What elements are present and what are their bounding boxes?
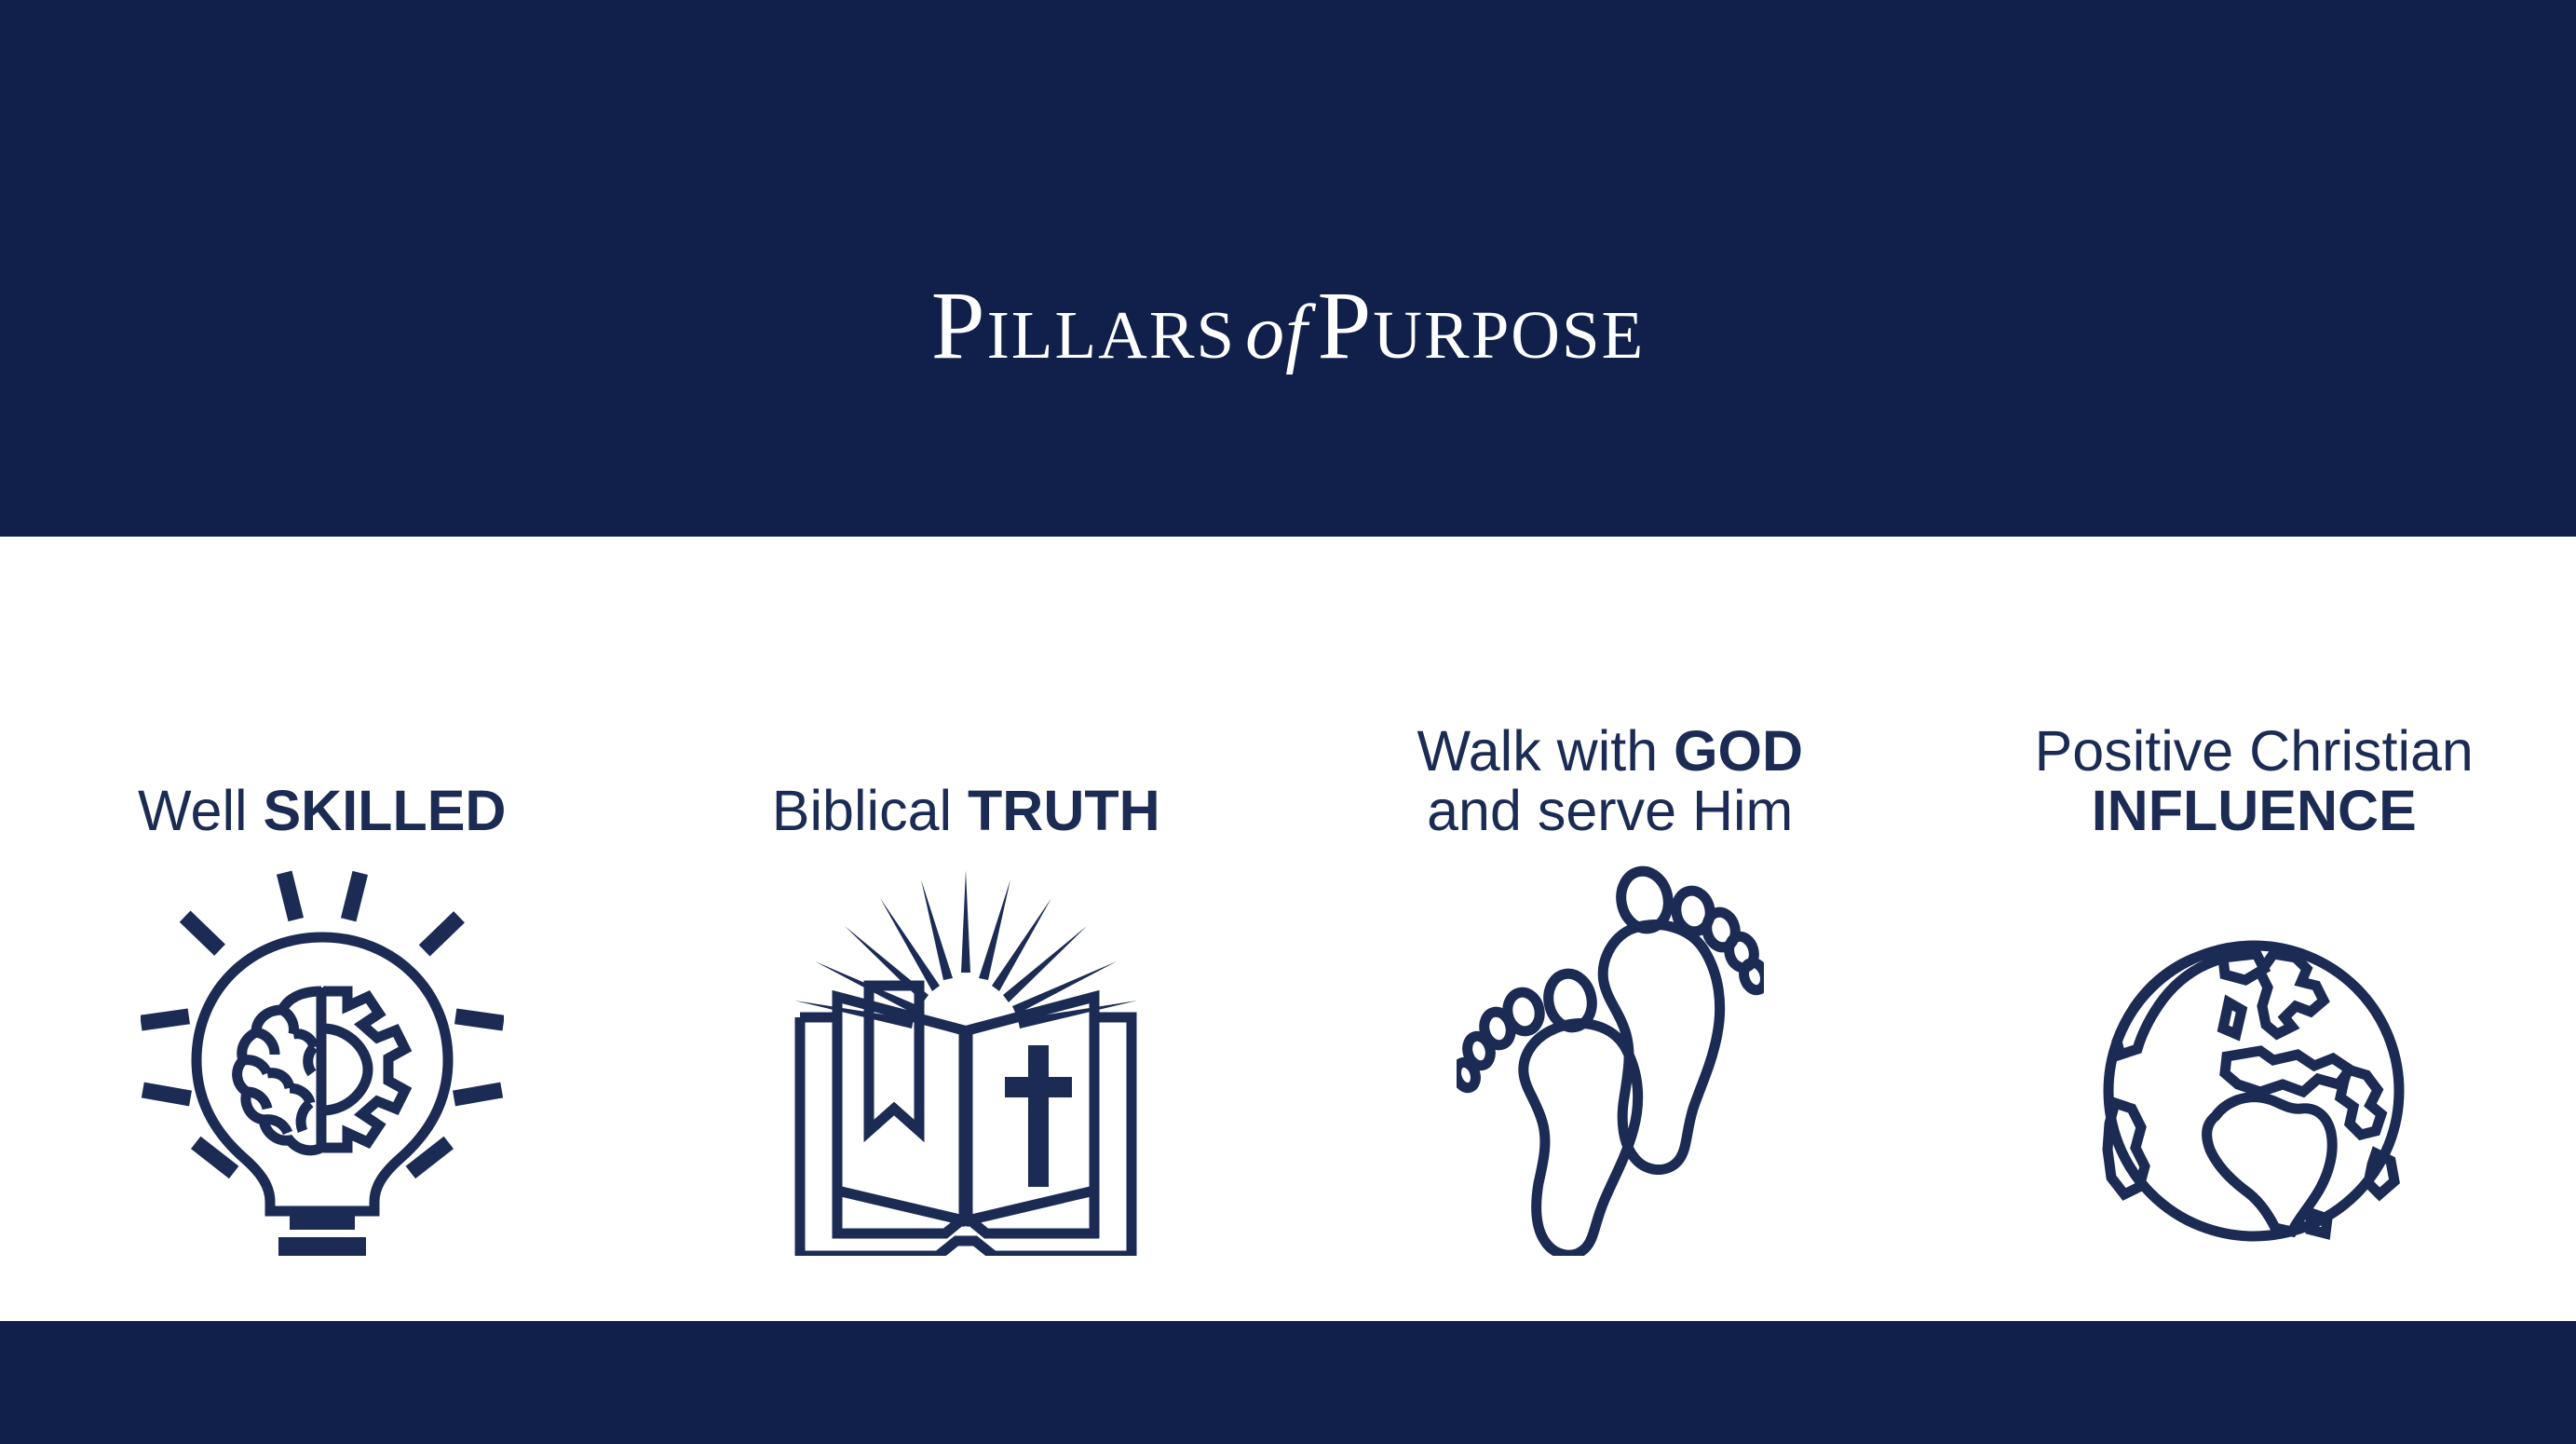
- label-line: and serve Him: [1427, 782, 1793, 840]
- footprints-icon: [1288, 865, 1932, 1302]
- slide-root: PillarsofPurpose Well SKILLED: [0, 0, 2576, 1444]
- pillar-biblical-truth[interactable]: Biblical TRUTH: [644, 537, 1289, 1321]
- page-title-part1: Pillars: [931, 272, 1236, 379]
- label-regular: Positive Christian: [2035, 719, 2474, 783]
- label-line: INFLUENCE: [2092, 782, 2417, 840]
- pillars-row: Well SKILLED: [0, 537, 2576, 1321]
- label-regular: Biblical: [772, 779, 968, 842]
- page-title-connector: of: [1236, 289, 1317, 375]
- pillar-well-skilled[interactable]: Well SKILLED: [0, 537, 644, 1321]
- label-bold: TRUTH: [968, 779, 1160, 842]
- label-line: Biblical TRUTH: [772, 782, 1160, 840]
- pillar-label-walk-with-god: Walk with GOD and serve Him: [1288, 719, 1932, 840]
- label-line: Positive Christian: [2035, 722, 2474, 781]
- label-bold: INFLUENCE: [2092, 779, 2417, 842]
- pillar-label-well-skilled: Well SKILLED: [0, 719, 644, 840]
- pillar-label-biblical-truth: Biblical TRUTH: [644, 719, 1289, 840]
- label-line: Walk with GOD: [1417, 722, 1803, 781]
- header-band: PillarsofPurpose: [0, 0, 2576, 537]
- label-regular: Well: [138, 779, 263, 842]
- label-line: Well SKILLED: [138, 782, 506, 840]
- label-bold: SKILLED: [264, 779, 507, 842]
- lightbulb-brain-gear-icon: [0, 865, 644, 1302]
- pillar-positive-christian-influence[interactable]: Positive Christian INFLUENCE: [1932, 537, 2576, 1321]
- pillar-walk-with-god[interactable]: Walk with GOD and serve Him: [1288, 537, 1932, 1321]
- open-bible-cross-icon: [644, 865, 1289, 1302]
- label-regular: Walk with: [1417, 719, 1674, 783]
- globe-icon: [1932, 865, 2576, 1302]
- footer-band: [0, 1321, 2576, 1444]
- label-regular: and serve Him: [1427, 779, 1793, 842]
- page-title-part2: Purpose: [1317, 272, 1645, 379]
- pillar-label-positive-christian-influence: Positive Christian INFLUENCE: [1932, 719, 2576, 840]
- label-bold: GOD: [1674, 719, 1803, 783]
- page-title: PillarsofPurpose: [0, 278, 2576, 375]
